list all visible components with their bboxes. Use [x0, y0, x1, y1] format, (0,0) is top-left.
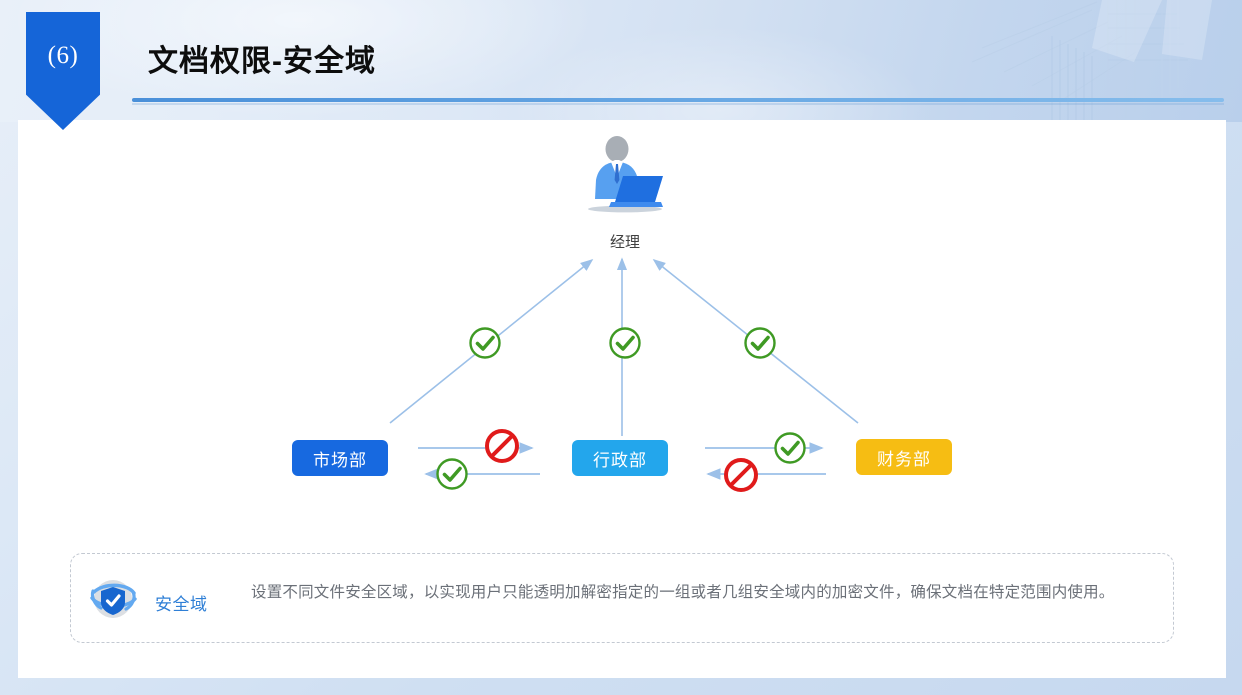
page-title: 文档权限-安全域 [148, 36, 376, 80]
dept-box-finance[interactable]: 财务部 [856, 439, 952, 475]
dept-box-admin[interactable]: 行政部 [572, 440, 668, 476]
manager-label: 经理 [561, 231, 689, 252]
manager-person-laptop-icon [581, 136, 669, 214]
dept-label-admin: 行政部 [593, 446, 647, 471]
note-callout: 安全域 设置不同文件安全区域，以实现用户只能透明加解密指定的一组或者几组安全域内… [70, 553, 1174, 643]
title-divider-shadow [132, 103, 1224, 105]
dept-label-finance: 财务部 [877, 445, 931, 470]
dept-box-marketing[interactable]: 市场部 [292, 440, 388, 476]
dept-label-marketing: 市场部 [313, 446, 367, 471]
section-number-label: (6) [26, 42, 100, 70]
title-divider [132, 98, 1224, 102]
note-body: 设置不同文件安全区域，以实现用户只能透明加解密指定的一组或者几组安全域内的加密文… [251, 581, 1151, 604]
slide-root: (6) 文档权限-安全域 [0, 0, 1242, 695]
note-title: 安全域 [155, 590, 208, 615]
security-shield-globe-icon [87, 574, 139, 624]
